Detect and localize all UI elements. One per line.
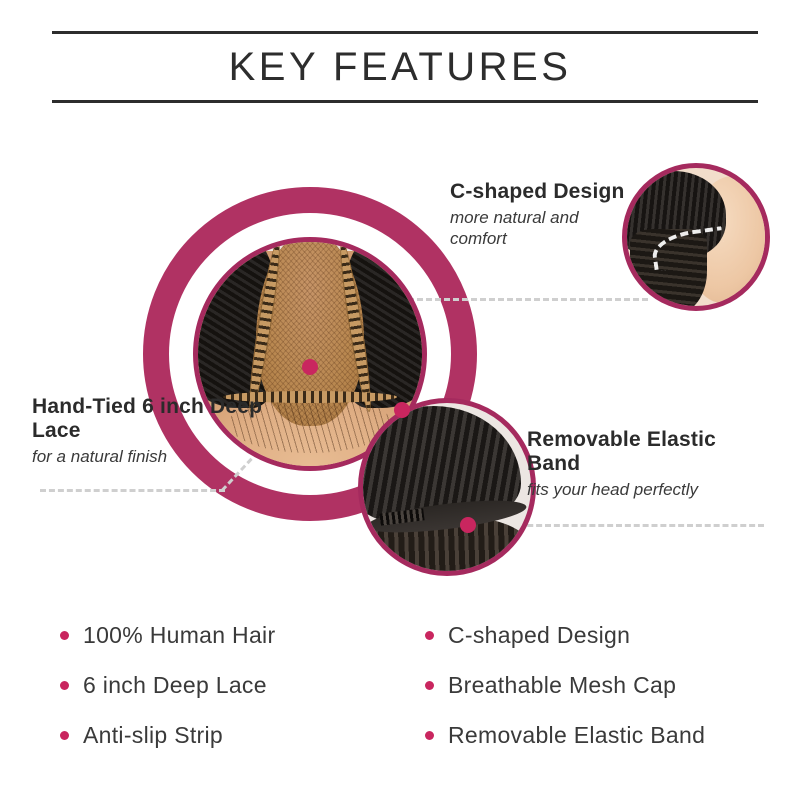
list-item: 6 inch Deep Lace [60,660,410,710]
bullet-dot-icon [60,681,69,690]
connector-dot-deep-lace [302,359,318,375]
callout-title: C-shaped Design [450,180,625,204]
callout-c-shaped-design: C-shaped Design more natural and comfort [450,180,625,249]
bullet-dot-icon [425,681,434,690]
list-item: C-shaped Design [425,610,785,660]
inset-image-removable-elastic-band [358,398,536,576]
feature-label: Breathable Mesh Cap [448,672,676,699]
leader-line-c-shaped-horizontal [408,298,648,301]
bullet-dot-icon [60,631,69,640]
graphic-stage: C-shaped Design more natural and comfort… [0,130,800,600]
callout-title: Hand-Tied 6 inch Deep Lace [32,395,267,443]
feature-label: 100% Human Hair [83,622,275,649]
feature-label: Removable Elastic Band [448,722,705,749]
page-title: KEY FEATURES [0,42,800,92]
header: KEY FEATURES [0,0,800,130]
bullet-dot-icon [60,731,69,740]
feature-label: Anti-slip Strip [83,722,223,749]
list-item: Removable Elastic Band [425,710,785,760]
feature-column-left: 100% Human Hair 6 inch Deep Lace Anti-sl… [60,610,410,760]
feature-label: C-shaped Design [448,622,630,649]
title-rule-bottom [52,100,758,103]
callout-subtitle: fits your head perfectly [527,479,772,500]
list-item: Breathable Mesh Cap [425,660,785,710]
callout-subtitle: more natural and comfort [450,207,625,249]
feature-column-right: C-shaped Design Breathable Mesh Cap Remo… [425,610,785,760]
bullet-dot-icon [425,631,434,640]
feature-label: 6 inch Deep Lace [83,672,267,699]
callout-subtitle: for a natural finish [32,446,267,467]
callout-removable-elastic-band: Removable Elastic Band fits your head pe… [527,428,772,500]
list-item: 100% Human Hair [60,610,410,660]
callout-hand-tied-deep-lace: Hand-Tied 6 inch Deep Lace for a natural… [32,395,267,467]
inset-image-c-shaped-design [622,163,770,311]
connector-dot-elastic-band [460,517,476,533]
callout-title: Removable Elastic Band [527,428,772,476]
bullet-dot-icon [425,731,434,740]
connector-dot-c-shaped [394,402,410,418]
leader-line-hand-tied-horizontal [40,489,225,492]
feature-list: 100% Human Hair 6 inch Deep Lace Anti-sl… [0,610,800,785]
list-item: Anti-slip Strip [60,710,410,760]
title-rule-top [52,31,758,34]
key-features-infographic: KEY FEATURES [0,0,800,800]
